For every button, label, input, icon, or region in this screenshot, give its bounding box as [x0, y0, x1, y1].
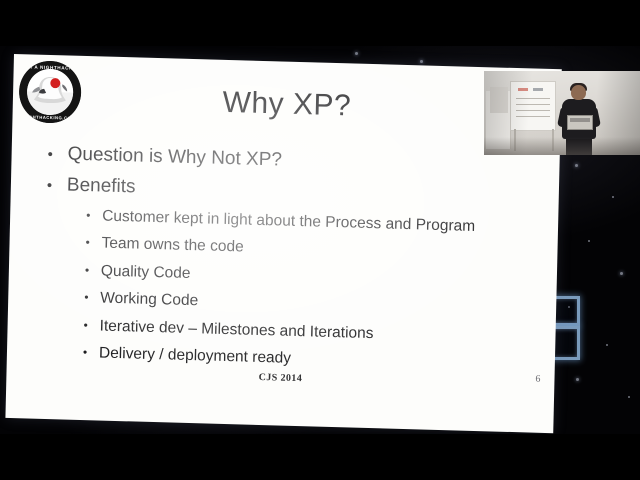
slide-page-number: 6 — [535, 374, 540, 385]
sub-bullet-item: • Working Code — [84, 288, 526, 320]
picture-in-picture-speaker — [484, 71, 640, 155]
sub-bullet-item: • Iterative dev – Milestones and Iterati… — [83, 316, 525, 348]
sub-bullet-item: • Team owns the code — [85, 233, 527, 265]
bullet-text: Working Code — [100, 289, 526, 320]
letterbox-bar-top — [0, 0, 640, 46]
svg-text:NIGHTHACKING.COM: NIGHTHACKING.COM — [24, 114, 76, 120]
sub-bullet-list: • Customer kept in light about the Proce… — [83, 206, 529, 375]
bullet-marker: • — [86, 206, 102, 221]
bullet-item: • Question is Why Not XP? — [47, 143, 529, 178]
bullet-text: Iterative dev – Milestones and Iteration… — [99, 316, 525, 347]
bullet-marker: • — [84, 316, 100, 331]
sub-bullet-item: • Customer kept in light about the Proce… — [86, 206, 528, 238]
bullet-marker: • — [83, 343, 99, 358]
bullet-text: Customer kept in light about the Process… — [102, 207, 528, 238]
projected-slide: I AM A NIGHTHACKER NIGHTHACKING.COM Why … — [5, 54, 561, 433]
bullet-marker: • — [84, 288, 100, 303]
bullet-text: Team owns the code — [101, 234, 527, 265]
bullet-marker: • — [47, 174, 67, 194]
slide-bullet-list: • Question is Why Not XP? • Benefits • C… — [43, 143, 530, 383]
bullet-item: • Benefits — [47, 174, 529, 209]
bullet-text: Quality Code — [101, 261, 527, 292]
bullet-marker: • — [85, 261, 101, 276]
video-stage: I AM A NIGHTHACKER NIGHTHACKING.COM Why … — [0, 0, 640, 480]
bullet-marker: • — [47, 143, 67, 163]
video-frame: I AM A NIGHTHACKER NIGHTHACKING.COM Why … — [0, 44, 640, 436]
slide-title: Why XP? — [13, 80, 562, 129]
bullet-text: Question is Why Not XP? — [67, 144, 529, 179]
sub-bullet-item: • Quality Code — [85, 261, 527, 293]
bullet-marker: • — [85, 233, 101, 248]
bullet-text: Benefits — [67, 175, 529, 210]
letterbox-bar-bottom — [0, 434, 640, 480]
